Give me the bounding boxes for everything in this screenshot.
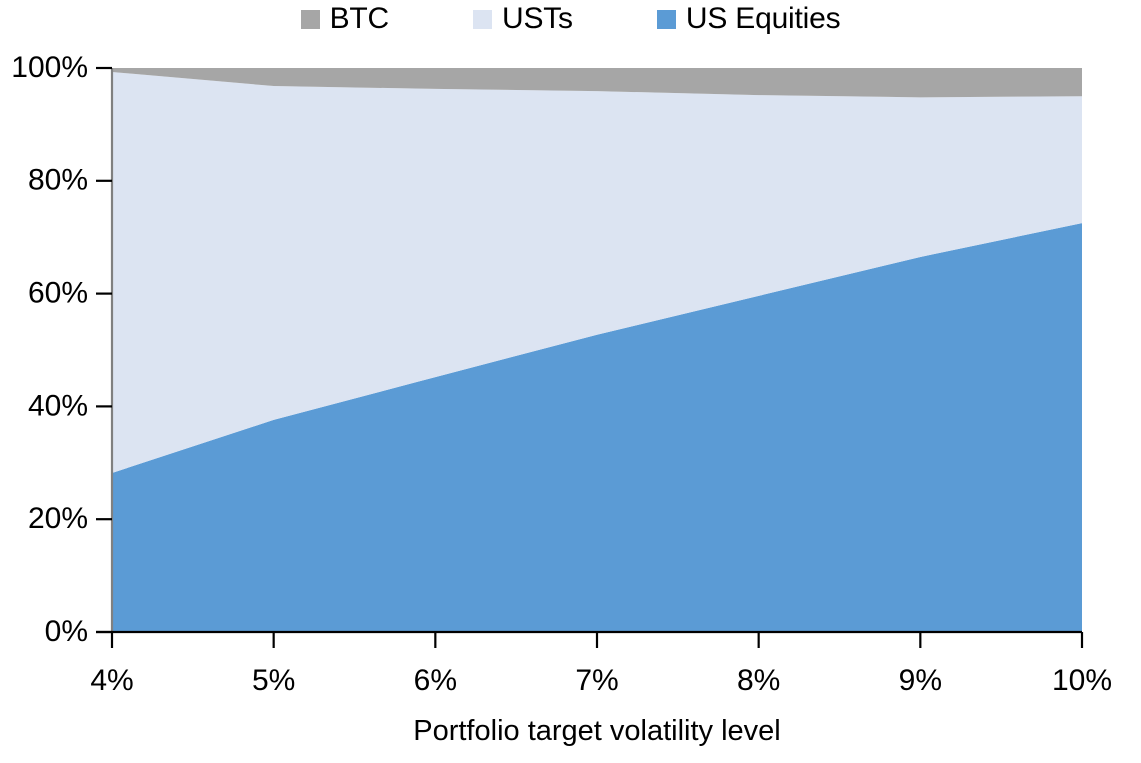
stacked-area-chart: 0%20%40%60%80%100% 4%5%6%7%8%9%10% Portf… xyxy=(0,0,1141,763)
y-tick-label: 20% xyxy=(28,502,88,535)
x-tick-label: 9% xyxy=(899,664,942,697)
x-tick-label: 4% xyxy=(90,664,133,697)
chart-root: BTC USTs US Equities 0%20%40%60%80%100% xyxy=(0,0,1141,763)
x-axis-title: Portfolio target volatility level xyxy=(413,715,781,747)
x-tick-label: 5% xyxy=(252,664,295,697)
x-tick-label: 10% xyxy=(1052,664,1112,697)
series-group xyxy=(112,68,1082,632)
x-tick-label: 6% xyxy=(414,664,457,697)
y-tick-label: 80% xyxy=(28,164,88,197)
y-tick-label: 0% xyxy=(45,615,88,648)
x-tick-label: 7% xyxy=(575,664,618,697)
x-axis: 4%5%6%7%8%9%10% xyxy=(90,632,1112,697)
y-tick-label: 60% xyxy=(28,277,88,310)
x-tick-label: 8% xyxy=(737,664,780,697)
plot-area: 0%20%40%60%80%100% 4%5%6%7%8%9%10% Portf… xyxy=(0,0,1141,763)
y-tick-label: 100% xyxy=(11,51,88,84)
y-tick-label: 40% xyxy=(28,389,88,422)
y-axis: 0%20%40%60%80%100% xyxy=(11,51,112,648)
